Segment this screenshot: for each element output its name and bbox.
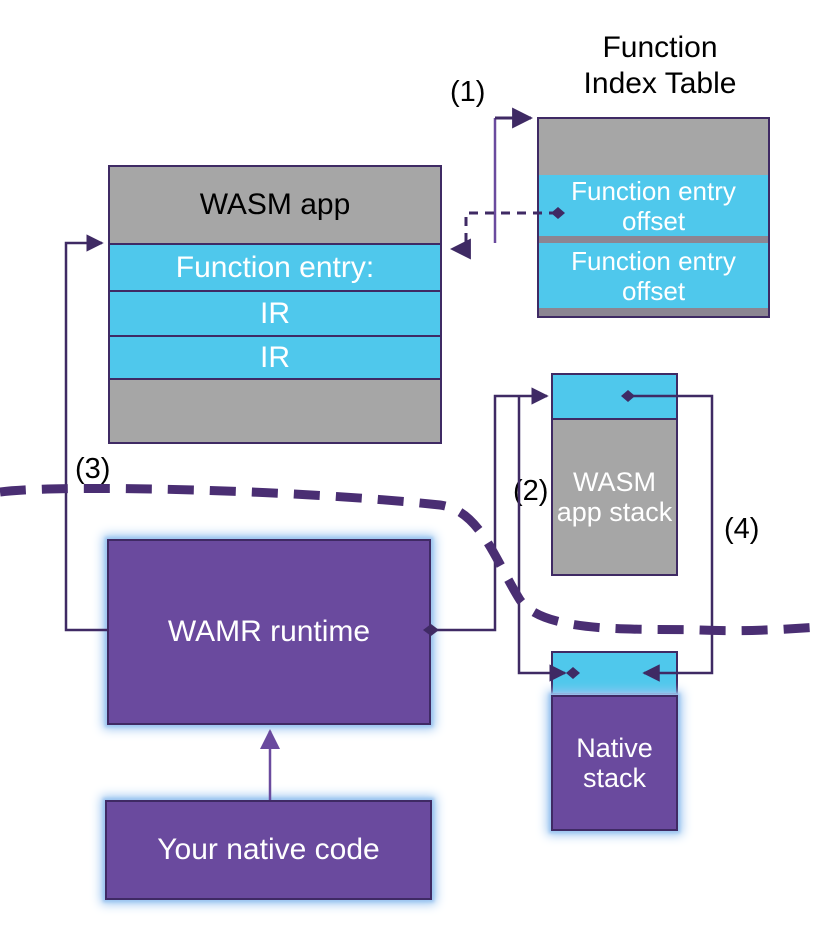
fit-divider-1: [539, 236, 768, 243]
native-stack-top-frame: [551, 651, 678, 695]
your-native-code-box: Your native code: [105, 800, 432, 900]
function-index-table-box: Function entry offset Function entry off…: [537, 117, 770, 318]
connector-3: [66, 243, 107, 630]
step-label-1: (1): [450, 78, 485, 107]
step-label-4: (4): [724, 515, 759, 544]
wasm-app-stack-box: WASM app stack: [551, 373, 678, 576]
step-label-2: (2): [513, 477, 548, 506]
fit-gray-top: [539, 119, 768, 175]
function-index-table-title: Function Index Table: [540, 30, 780, 102]
connector-1: [495, 118, 531, 243]
fit-entry-1: Function entry offset: [539, 175, 768, 236]
wasm-app-stack-top-frame: [553, 375, 676, 420]
wasm-app-ir-2: IR: [110, 335, 440, 380]
wasm-app-stack-label: WASM app stack: [553, 420, 676, 574]
step-label-3: (3): [75, 455, 110, 484]
native-stack-label: Native stack: [551, 695, 678, 831]
fit-entry-2: Function entry offset: [539, 243, 768, 308]
wasm-app-box: WASM app Function entry: IR IR: [108, 165, 442, 444]
wamr-runtime-box: WAMR runtime: [107, 539, 431, 725]
fit-divider-2: [539, 308, 768, 316]
wasm-app-header: WASM app: [110, 167, 440, 243]
native-stack-group: Native stack: [551, 651, 678, 831]
wasm-app-function-entry: Function entry:: [110, 243, 440, 290]
wasm-app-ir-1: IR: [110, 290, 440, 335]
wasm-app-gray-bottom: [110, 380, 440, 442]
diagram-canvas: Function Index Table (1) (2) (3) (4) Fun…: [0, 0, 819, 925]
